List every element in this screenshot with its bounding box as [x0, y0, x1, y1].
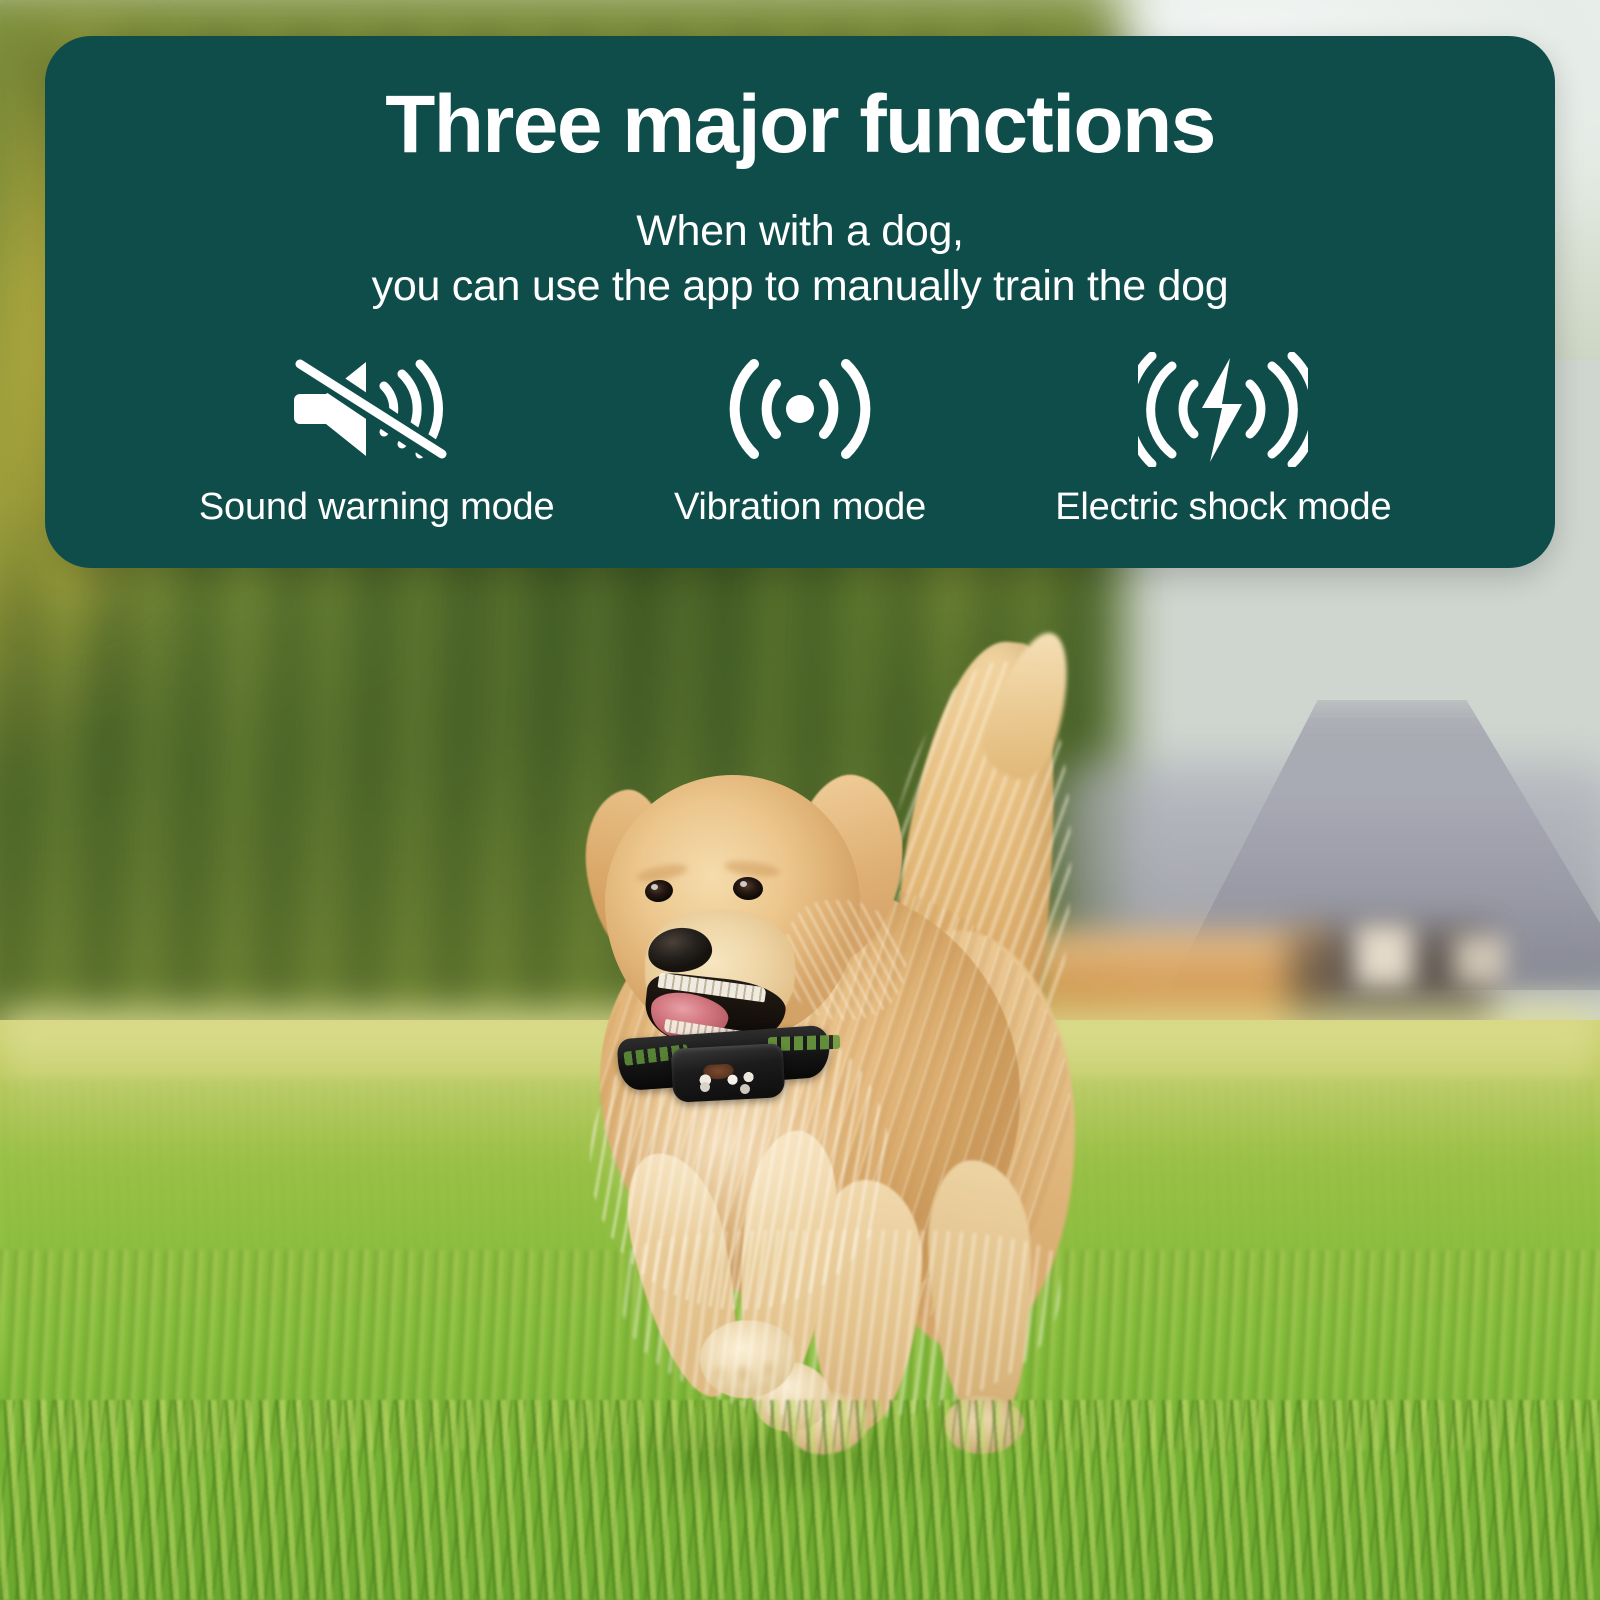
sound-muted-icon: [292, 354, 462, 464]
lightning-bolt-waves-icon: [1138, 354, 1308, 464]
mode-item-sound-warning[interactable]: Sound warning mode: [165, 354, 588, 529]
panel-subtitle: When with a dog, you can use the app to …: [45, 204, 1555, 314]
dog-eye-highlight-left: [651, 884, 658, 890]
product-infographic: Three major functions When with a dog, y…: [0, 0, 1600, 1600]
info-panel: Three major functions When with a dog, y…: [45, 36, 1555, 568]
page-title: Three major functions: [45, 84, 1555, 166]
mode-label-sound-warning: Sound warning mode: [199, 486, 555, 529]
mode-label-electric-shock: Electric shock mode: [1055, 486, 1391, 529]
mode-label-vibration: Vibration mode: [674, 486, 926, 529]
grass-texture-near: [0, 1400, 1600, 1600]
subtitle-line-2: you can use the app to manually train th…: [45, 259, 1555, 314]
subtitle-line-1: When with a dog,: [636, 207, 963, 255]
dog-eye-highlight-right: [740, 881, 747, 887]
vibration-waves-icon: [720, 354, 880, 464]
mode-item-vibration[interactable]: Vibration mode: [588, 354, 1011, 529]
mode-item-electric-shock[interactable]: Electric shock mode: [1012, 354, 1435, 529]
mode-list: Sound warning mode Vibration mode: [165, 354, 1435, 529]
